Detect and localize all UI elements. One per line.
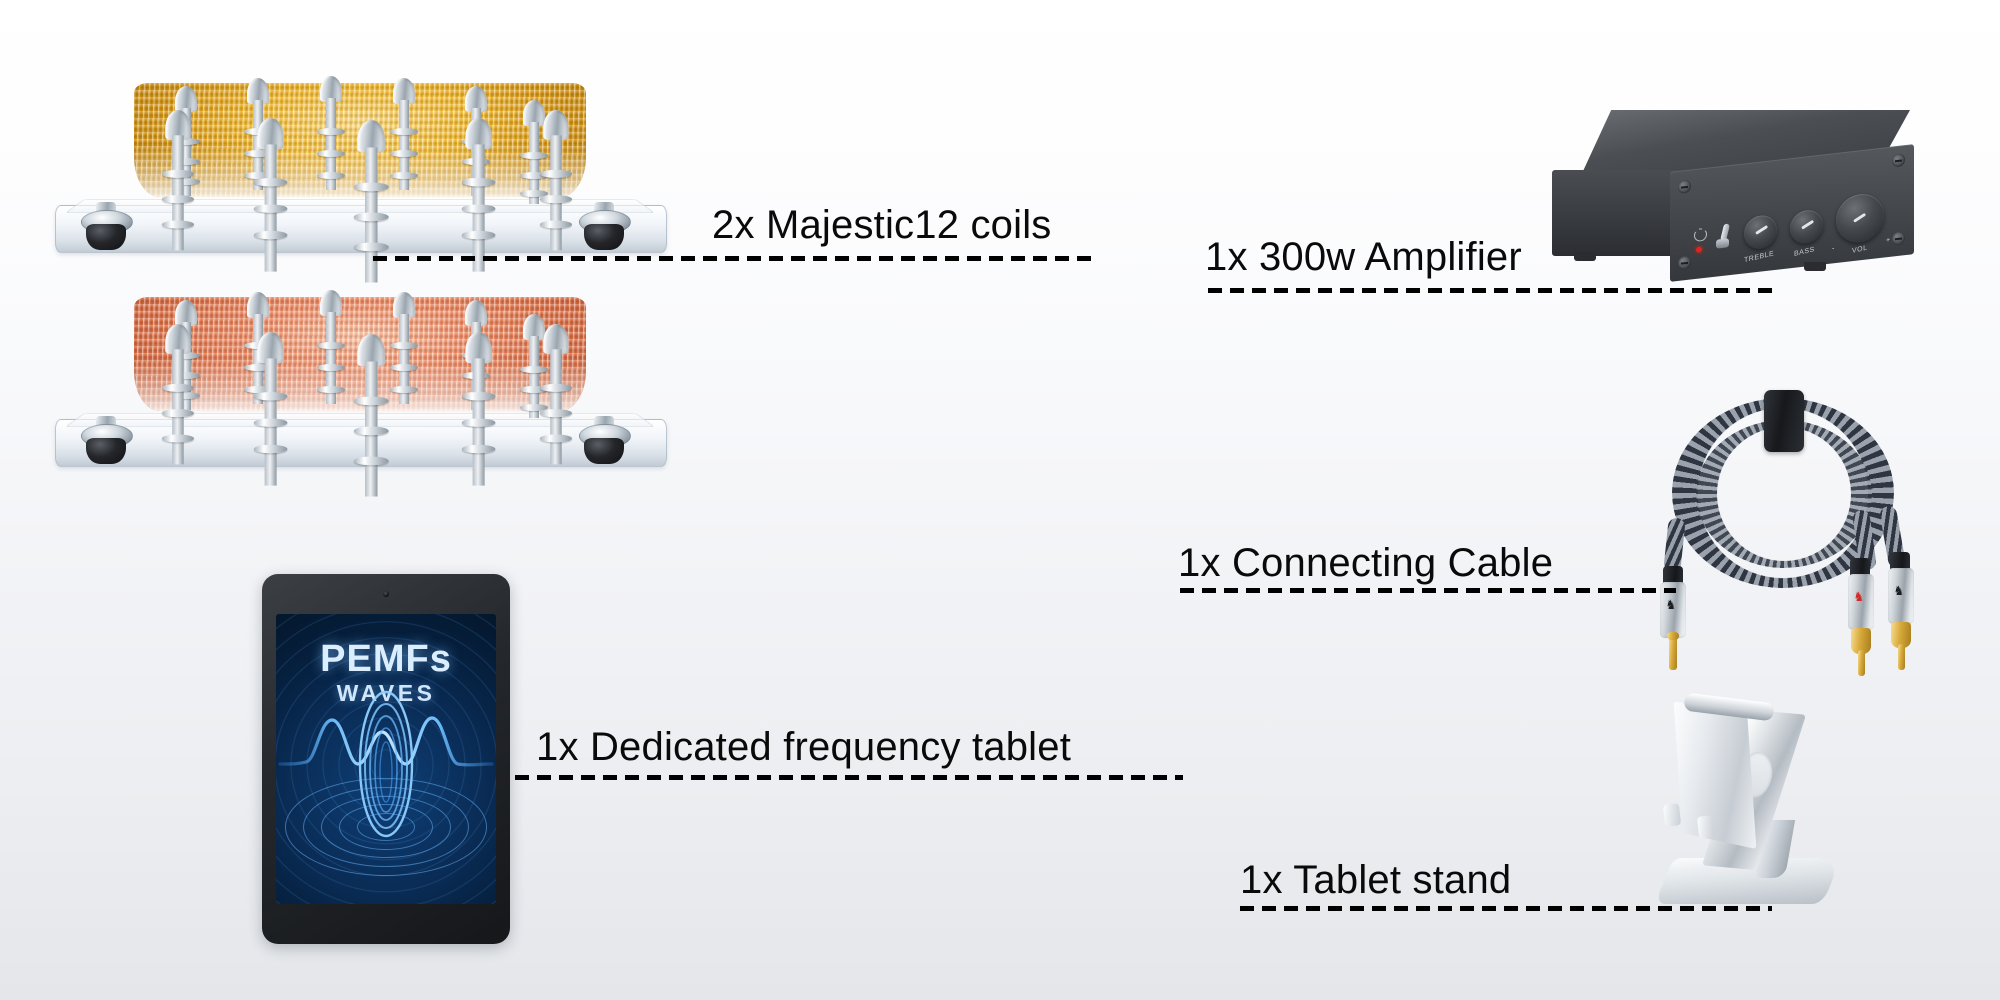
power-toggle-switch[interactable] <box>1716 223 1729 248</box>
coil-foot <box>79 210 133 250</box>
brand-logo-icon: ♞ <box>1894 584 1904 597</box>
amplifier-screw <box>1678 256 1691 270</box>
power-icon <box>1694 228 1707 242</box>
stand-front-plate <box>1674 701 1757 849</box>
amplifier-foot <box>1804 262 1826 271</box>
coil-foot <box>577 210 631 250</box>
amplifier-foot <box>1574 252 1596 261</box>
volume-knob-label: VOL <box>1852 245 1868 256</box>
coil-post <box>541 324 571 464</box>
coil-post <box>318 290 344 404</box>
tablet-screen[interactable]: PEMFs WAVES <box>276 614 496 904</box>
cable-leg-left <box>1663 517 1686 572</box>
coil-post <box>463 332 494 486</box>
product-image-tablet: PEMFs WAVES <box>262 574 510 944</box>
label-underline-coils <box>373 256 1093 261</box>
coil-post <box>163 110 193 250</box>
stand-lip <box>1663 803 1681 827</box>
product-image-tablet-stand <box>1660 690 1850 915</box>
bass-knob[interactable] <box>1790 208 1823 245</box>
bass-knob-label: BASS <box>1794 246 1815 258</box>
power-led-indicator <box>1696 246 1702 253</box>
front-camera-icon <box>383 591 389 597</box>
coil-post <box>318 76 344 190</box>
product-image-coil-copper <box>55 282 665 467</box>
treble-knob[interactable] <box>1744 214 1777 251</box>
amplifier-screw <box>1892 153 1905 167</box>
label-tablet: 1x Dedicated frequency tablet <box>536 727 1071 767</box>
label-underline-stand <box>1240 906 1772 911</box>
coil-post <box>255 118 286 272</box>
label-underline-tablet <box>515 775 1183 780</box>
coil-post <box>391 78 417 190</box>
coil-foot <box>577 424 631 464</box>
coil-foot <box>79 424 133 464</box>
coil-post <box>391 292 417 404</box>
stand-lip <box>1697 815 1715 839</box>
volume-knob[interactable] <box>1836 192 1884 245</box>
coil-post <box>355 334 388 497</box>
product-image-amplifier: TREBLE BASS VOL - + <box>1552 110 1922 275</box>
brand-logo-icon: ♞ <box>1854 590 1864 603</box>
coil-post <box>163 324 193 464</box>
coil-post <box>541 110 571 250</box>
brand-logo-icon: ♞ <box>1666 598 1676 611</box>
product-image-coil-gold <box>55 68 665 253</box>
cable-velcro-tie <box>1764 390 1804 452</box>
label-underline-cable <box>1180 588 1676 593</box>
label-stand: 1x Tablet stand <box>1240 860 1511 900</box>
volume-max-label: + <box>1886 237 1891 245</box>
coil-post <box>255 332 286 486</box>
label-cable: 1x Connecting Cable <box>1178 543 1553 583</box>
amplifier-screw <box>1678 180 1691 194</box>
ripple-graphic <box>281 772 491 882</box>
label-underline-amplifier <box>1208 288 1780 293</box>
coil-post <box>463 118 494 272</box>
amplifier-screw <box>1892 231 1905 245</box>
treble-knob-label: TREBLE <box>1744 250 1774 264</box>
product-image-cable: ♞ ♞ ♞ <box>1660 390 2000 660</box>
volume-min-label: - <box>1832 245 1835 253</box>
package-contents-diagram: TREBLE BASS VOL - + ♞ <box>0 0 2000 1000</box>
label-coils: 2x Majestic12 coils <box>712 205 1051 245</box>
label-amplifier: 1x 300w Amplifier <box>1205 237 1522 277</box>
